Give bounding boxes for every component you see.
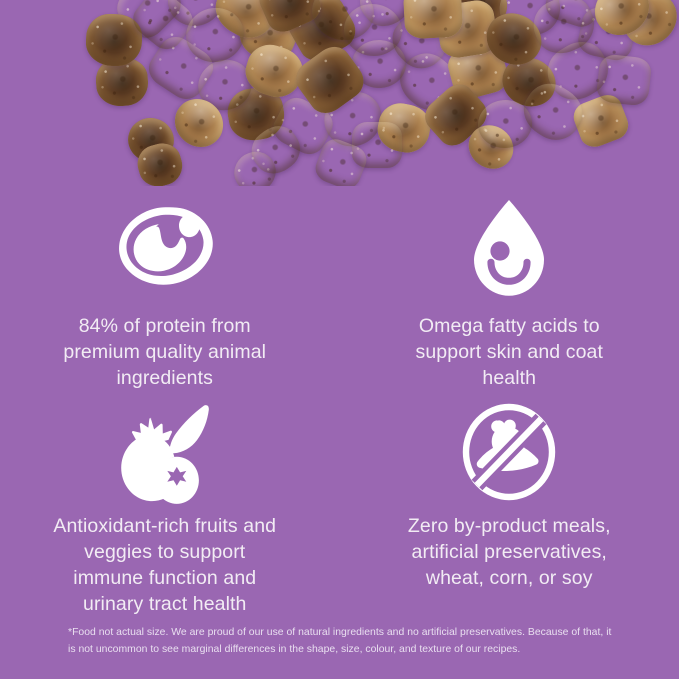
omega-droplet-icon — [457, 200, 561, 296]
benefit-item-antioxidant: Antioxidant-rich fruits and veggies to s… — [0, 392, 340, 618]
kibble-piece — [403, 0, 464, 39]
fruits-berries-icon — [113, 404, 217, 500]
kibble-photo — [0, 0, 679, 186]
benefit-item-no-byproducts: Zero by-product meals, artificial preser… — [340, 392, 679, 618]
benefit-item-omega: Omega fatty acids to support skin and co… — [340, 186, 679, 392]
benefit-item-protein: 84% of protein from premium quality anim… — [0, 186, 340, 392]
benefit-label-no-byproducts: Zero by-product meals, artificial preser… — [394, 514, 624, 592]
product-benefits-panel: 84% of protein from premium quality anim… — [0, 0, 679, 679]
benefits-grid: 84% of protein from premium quality anim… — [0, 186, 679, 616]
footnote-disclaimer: *Food not actual size. We are proud of o… — [68, 625, 614, 659]
kibble-piece — [596, 53, 653, 106]
benefit-label-antioxidant: Antioxidant-rich fruits and veggies to s… — [50, 514, 280, 618]
no-byproduct-icon — [457, 404, 561, 500]
meat-cut-icon — [113, 200, 217, 296]
benefit-label-omega: Omega fatty acids to support skin and co… — [394, 314, 624, 392]
benefit-label-protein: 84% of protein from premium quality anim… — [50, 314, 280, 392]
